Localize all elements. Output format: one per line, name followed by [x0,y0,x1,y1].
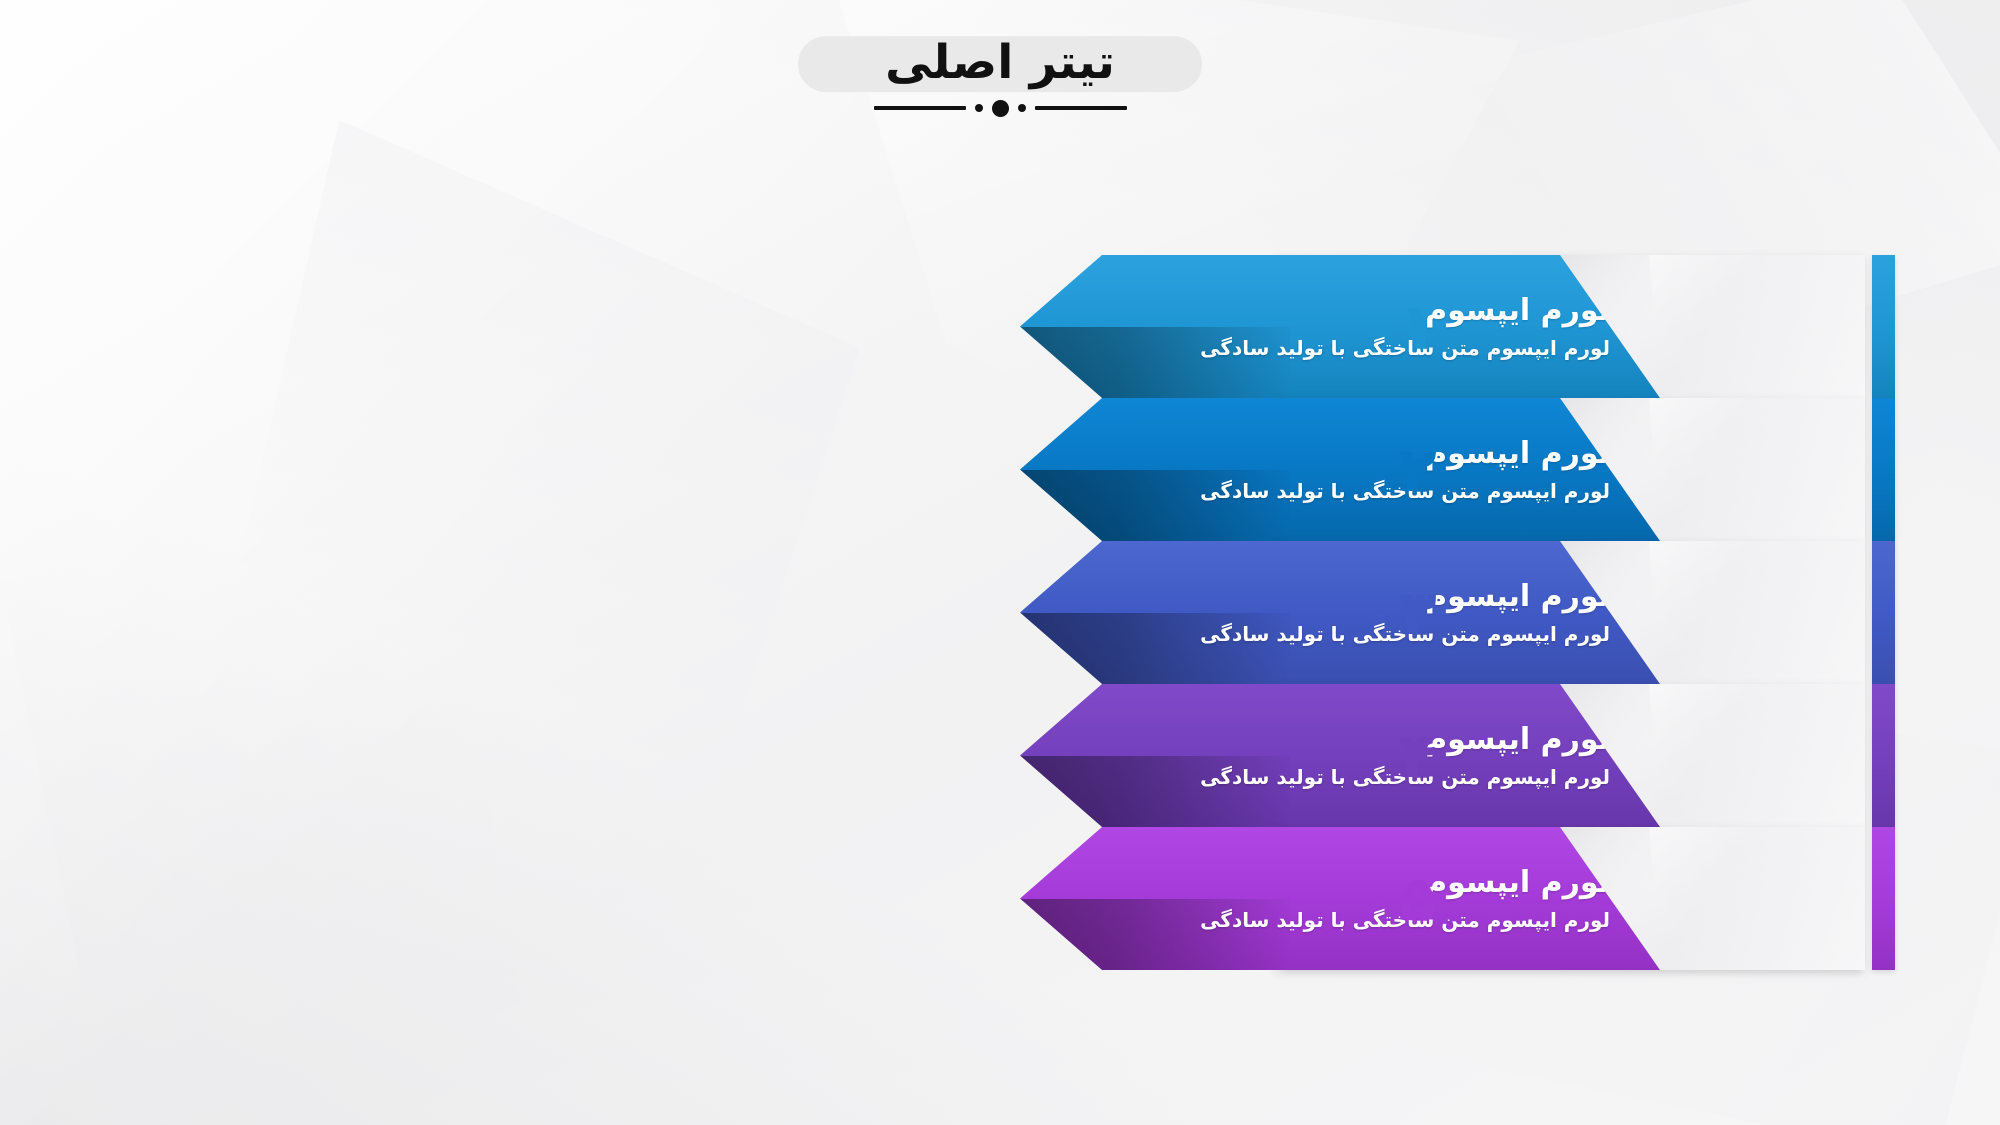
row-accent-bar [1872,255,1895,398]
row-graphic: ۰۳ لورم ایپسوم لورم ایپسوم متن ساختگی با… [1020,541,1920,684]
row-graphic: ۰۴ لورم ایپسوم لورم ایپسوم متن ساختگی با… [1020,684,1920,827]
infographic-row[interactable]: لورم ایپسوم متن ساختگی با تولید سادگی نا… [0,827,2000,970]
row-title: لورم ایپسوم [1425,722,1616,757]
infographic-row[interactable]: لورم ایپسوم متن ساختگی با تولید سادگی نا… [0,541,2000,684]
divider-dot-large [992,100,1009,117]
infographic-row[interactable]: لورم ایپسوم متن ساختگی با تولید سادگی نا… [0,684,2000,827]
divider-bar-right [1035,106,1127,110]
divider-dot-small-left [975,104,983,112]
divider-bar-left [874,106,966,110]
row-number: ۰۱ [1361,296,1437,358]
chevron-text-block: لورم ایپسوم لورم ایپسوم متن ساختگی با تو… [1020,255,1660,398]
row-number: ۰۳ [1361,582,1437,644]
row-chevron-banner[interactable]: لورم ایپسوم لورم ایپسوم متن ساختگی با تو… [1020,255,1660,398]
chevron-text-block: لورم ایپسوم لورم ایپسوم متن ساختگی با تو… [1020,541,1660,684]
row-title: لورم ایپسوم [1425,865,1616,900]
row-number: ۰۴ [1361,725,1437,787]
row-graphic: ۰۵ لورم ایپسوم لورم ایپسوم متن ساختگی با… [1020,827,1920,970]
row-number: ۰۵ [1361,868,1437,930]
slide-header: تیتر اصلی [0,0,2000,150]
row-number: ۰۲ [1361,439,1437,501]
row-chevron-banner[interactable]: لورم ایپسوم لورم ایپسوم متن ساختگی با تو… [1020,827,1660,970]
row-graphic: ۰۱ لورم ایپسوم لورم ایپسوم متن ساختگی با… [1020,255,1920,398]
page-title: تیتر اصلی [885,38,1115,87]
row-graphic: ۰۲ لورم ایپسوم لورم ایپسوم متن ساختگی با… [1020,398,1920,541]
infographic-row[interactable]: لورم ایپسوم متن ساختگی با تولید سادگی نا… [0,398,2000,541]
row-title: لورم ایپسوم [1425,293,1616,328]
row-chevron-banner[interactable]: لورم ایپسوم لورم ایپسوم متن ساختگی با تو… [1020,541,1660,684]
row-title: لورم ایپسوم [1425,436,1616,471]
row-title: لورم ایپسوم [1425,579,1616,614]
row-accent-bar [1872,398,1895,541]
row-chevron-banner[interactable]: لورم ایپسوم لورم ایپسوم متن ساختگی با تو… [1020,398,1660,541]
chevron-text-block: لورم ایپسوم لورم ایپسوم متن ساختگی با تو… [1020,684,1660,827]
infographic-rows: لورم ایپسوم متن ساختگی با تولید سادگی نا… [0,255,2000,970]
divider-dot-small-right [1018,104,1026,112]
chevron-text-block: لورم ایپسوم لورم ایپسوم متن ساختگی با تو… [1020,827,1660,970]
title-divider [874,99,1127,117]
row-chevron-banner[interactable]: لورم ایپسوم لورم ایپسوم متن ساختگی با تو… [1020,684,1660,827]
row-accent-bar [1872,541,1895,684]
row-accent-bar [1872,684,1895,827]
infographic-row[interactable]: لورم ایپسوم متن ساختگی با تولید سادگی نا… [0,255,2000,398]
chevron-text-block: لورم ایپسوم لورم ایپسوم متن ساختگی با تو… [1020,398,1660,541]
row-accent-bar [1872,827,1895,970]
title-wrap: تیتر اصلی [885,38,1115,87]
